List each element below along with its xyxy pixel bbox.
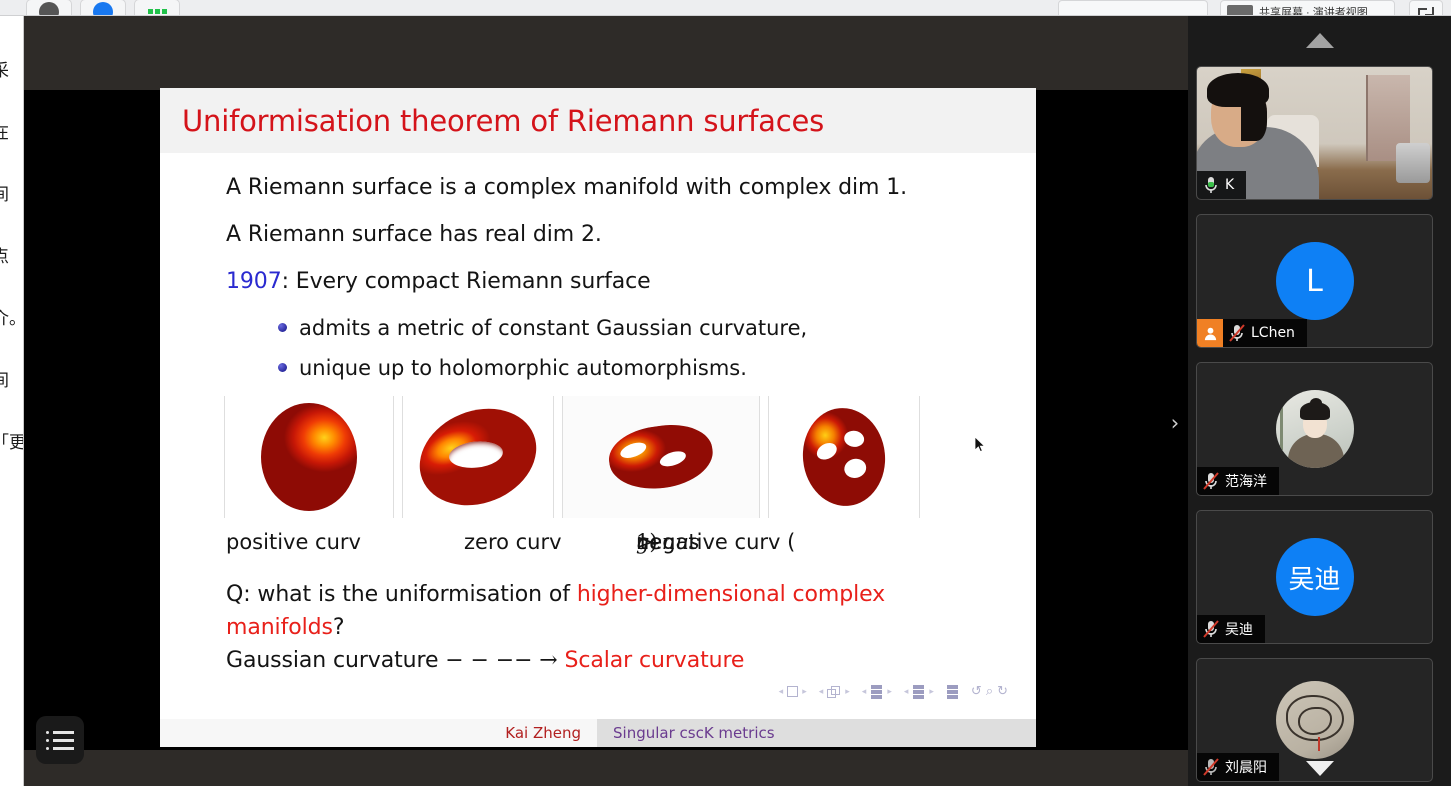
list-icon [46,731,74,750]
arrow-line-dashes: − − −− → [445,648,564,673]
arrow-line: Gaussian curvature − − −− → Scalar curva… [226,644,1010,677]
slide-footer: Kai Zheng Singular cscK metrics [160,719,1036,747]
sketch-artwork [1276,681,1354,759]
doc-next-icon[interactable]: ▸ [929,687,934,697]
slide-body: A Riemann surface is a complex manifold … [160,153,1036,677]
list-item: unique up to holomorphic automorphisms. [278,356,1010,380]
participant-namebar: 范海洋 [1197,467,1279,495]
footer-talk-title: Singular cscK metrics [597,719,1036,747]
participant-list-button[interactable] [36,716,84,764]
participant-namebar: 吴迪 [1197,615,1265,643]
stage-bottom-letterbox [24,750,1188,786]
participant-tile[interactable]: 吴迪 吴迪 [1196,510,1433,644]
figure-divider [919,396,920,518]
participant-tile[interactable]: L LChen [1196,214,1433,348]
list-item: admits a metric of constant Gaussian cur… [278,316,1010,340]
forward-icon[interactable]: ↻ [997,684,1008,699]
participant-name: 吴迪 [1225,619,1253,639]
slide-line-2: A Riemann surface has real dim 2. [226,222,1010,247]
portrait-artwork [1276,390,1354,468]
window-thumbnail-icon [1227,5,1253,16]
participant-name: 范海洋 [1225,471,1267,491]
bullet-dot-icon [278,363,287,372]
mic-muted-icon [1197,471,1225,491]
question-pre: Q: what is the uniformisation of [226,582,577,607]
theorem-year: 1907 [226,269,282,294]
stage-top-letterbox [24,16,1188,90]
nav-group-document[interactable]: ◂ ▸ [904,685,934,699]
genus-three-surface-figure [769,396,919,518]
mic-muted-icon [1197,619,1225,639]
nav-group-section[interactable]: ◂ ▸ [862,685,892,699]
participant-name: LChen [1251,325,1295,341]
participant-namebar: K [1197,171,1246,199]
doc-prev-icon[interactable]: ◂ [904,687,909,697]
caption-genus-value: 1) [636,530,658,554]
subsection-next-icon[interactable]: ▸ [845,687,850,697]
back-icon[interactable]: ↺ [971,684,982,699]
scroll-up-arrow-icon [1306,33,1334,48]
shared-window-title-label: 共享屏幕 · 演讲者视图 [1259,4,1368,17]
bullet-dot-icon [278,323,287,332]
torus-surface-figure [403,396,553,518]
host-badge-icon [1197,319,1223,347]
mic-active-icon [1197,175,1225,195]
green-grid-icon[interactable] [134,0,180,16]
section-next-icon[interactable]: ▸ [887,687,892,697]
sphere-surface-figure [225,396,393,518]
nav-group-end[interactable] [946,685,959,699]
beamer-navigation-bar[interactable]: ◂ ▸ ◂ ▸ ◂ ▸ ◂ ▸ [779,684,1020,699]
question-line: Q: what is the uniformisation of higher-… [226,578,1010,644]
scroll-down-arrow-icon [1306,761,1334,776]
person-hair-side [1241,93,1267,141]
theorem-statement: 1907: Every compact Riemann surface [226,269,1010,294]
participant-namebar: LChen [1197,319,1307,347]
nav-group-frame[interactable]: ◂ ▸ [779,686,807,697]
blue-circle-icon[interactable] [80,0,126,16]
nav-group-tools[interactable]: ↺ ⌕ ↻ [971,684,1008,699]
gray-circle-icon[interactable] [26,0,72,16]
subsection-stack-icon[interactable] [827,686,841,698]
mic-muted-icon [1223,323,1251,343]
slide-header: Uniformisation theorem of Riemann surfac… [160,88,1036,153]
avatar: L [1276,242,1354,320]
avatar [1276,390,1354,468]
slide-title: Uniformisation theorem of Riemann surfac… [182,104,824,138]
fullscreen-icon[interactable] [1409,0,1443,16]
background-window-side-text: 采在间点介。间「更 [0,40,22,474]
frame-next-icon[interactable]: ▸ [802,687,807,697]
bullet-label: unique up to holomorphic automorphisms. [299,356,747,380]
frame-prev-icon[interactable]: ◂ [779,687,784,697]
bullet-label: admits a metric of constant Gaussian cur… [299,316,807,340]
figure-captions: positive curv zero curv negative curv (g… [226,530,1010,558]
shared-screen-stage: Uniformisation theorem of Riemann surfac… [24,16,1188,786]
subsection-prev-icon[interactable]: ◂ [819,687,824,697]
shared-window-title[interactable]: 共享屏幕 · 演讲者视图 [1220,0,1395,16]
search-icon[interactable]: ⌕ [986,684,993,699]
genus-two-surface-figure [563,396,759,518]
arrow-line-highlight: Scalar curvature [565,648,745,673]
frame-square-icon[interactable] [787,686,798,697]
participant-filmstrip: K L [1188,16,1451,786]
desktop-taskbar: 共享屏幕 · 演讲者视图 [0,0,1451,16]
nav-group-subsection[interactable]: ◂ ▸ [819,686,850,698]
section-prev-icon[interactable]: ◂ [862,687,867,697]
bullet-list: admits a metric of constant Gaussian cur… [278,316,1010,380]
slide-line-1: A Riemann surface is a complex manifold … [226,175,1010,200]
collapse-panel-chevron-icon[interactable]: › [1162,406,1188,440]
avatar: 吴迪 [1276,538,1354,616]
question-post: ? [333,615,345,640]
luggage [1396,143,1430,183]
filmstrip-scroll-down-button[interactable] [1188,756,1451,780]
participant-name: K [1225,177,1234,193]
doc-end-icon[interactable] [946,685,959,699]
participant-tile[interactable]: K [1196,66,1433,200]
caption-positive: positive curv [226,530,361,554]
avatar [1276,681,1354,759]
participant-tile[interactable]: 范海洋 [1196,362,1433,496]
arrow-line-pre: Gaussian curvature [226,648,445,673]
surface-figure-row [224,396,1010,518]
background-window-left: 采在间点介。间「更 [0,16,24,786]
section-bar-icon[interactable] [870,685,883,699]
theorem-text: : Every compact Riemann surface [282,269,651,294]
toolbar-blank-button[interactable] [1058,0,1208,16]
footer-author: Kai Zheng [160,719,597,747]
presentation-slide: Uniformisation theorem of Riemann surfac… [160,88,1036,747]
caption-zero: zero curv [464,530,562,554]
doc-bar-icon[interactable] [912,685,925,699]
filmstrip-scroll-up-button[interactable] [1188,28,1451,52]
